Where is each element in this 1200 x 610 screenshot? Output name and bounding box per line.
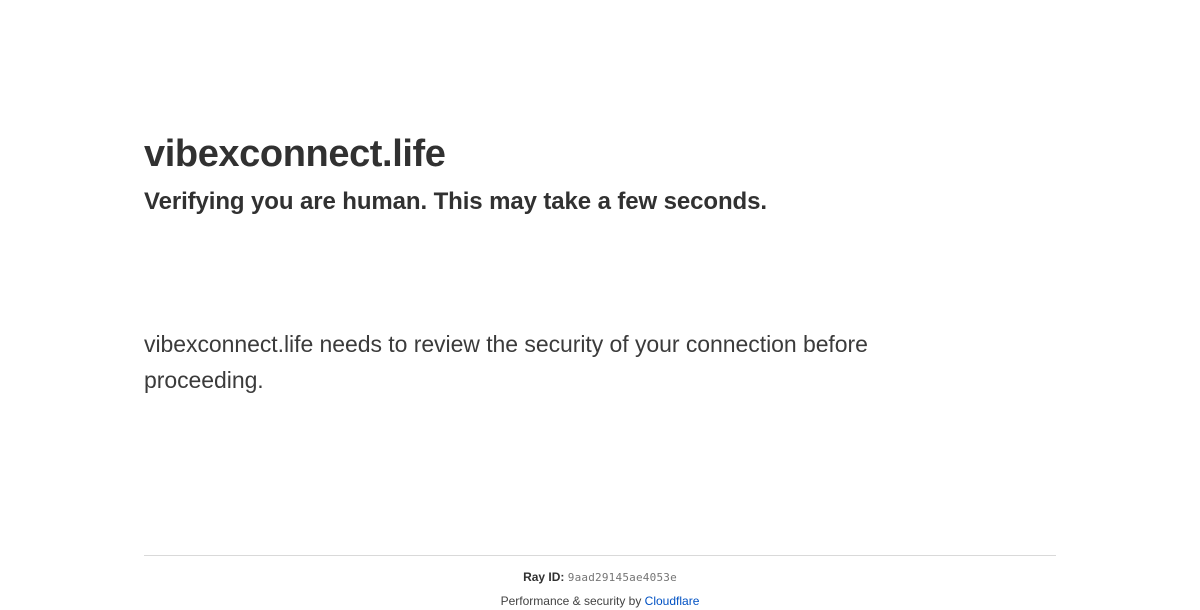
challenge-description-text: vibexconnect.life needs to review the se… bbox=[144, 326, 944, 398]
challenge-main: vibexconnect.life Verifying you are huma… bbox=[144, 131, 1056, 421]
page-container: vibexconnect.life Verifying you are huma… bbox=[144, 0, 1056, 600]
turnstile-challenge-widget[interactable] bbox=[144, 241, 444, 306]
performance-security-text: Performance & security by bbox=[501, 594, 642, 608]
ray-id-line: Ray ID: 9aad29145ae4053e bbox=[144, 568, 1056, 587]
verification-status-text: Verifying you are human. This may take a… bbox=[144, 187, 1056, 217]
provider-attribution-line: Performance & security by Cloudflare bbox=[144, 592, 1056, 610]
footer: Ray ID: 9aad29145ae4053e Performance & s… bbox=[144, 555, 1056, 610]
ray-id-label: Ray ID: bbox=[523, 570, 564, 584]
page-title: vibexconnect.life bbox=[144, 131, 1056, 177]
ray-id-value: 9aad29145ae4053e bbox=[568, 571, 677, 584]
cloudflare-link[interactable]: Cloudflare bbox=[645, 594, 700, 608]
